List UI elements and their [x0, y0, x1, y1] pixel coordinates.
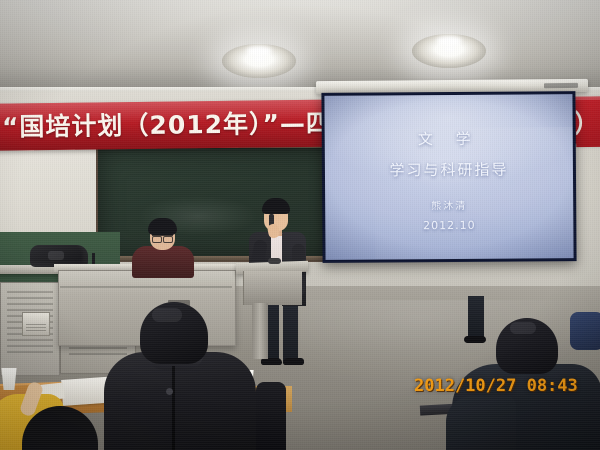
- audience-right-head: [496, 318, 558, 374]
- blue-bag: [570, 312, 600, 350]
- chair-back: [256, 382, 286, 450]
- housing-logo-icon: [544, 83, 578, 88]
- screen-vignette: [324, 94, 573, 260]
- presenter-hair: [262, 198, 290, 214]
- podium-body: [243, 271, 302, 305]
- rear-standing-person-shoe: [464, 336, 486, 343]
- projection-screen: 文 学 学习与科研指导 熊沐清 2012.10: [321, 91, 576, 263]
- ceiling-light-left-icon: [222, 44, 296, 78]
- rear-standing-person-legs: [468, 296, 484, 340]
- blackboard: [96, 146, 350, 262]
- console-seam: [60, 286, 232, 288]
- audience-leather-jacket-head: [140, 302, 208, 364]
- red-banner-right-segment: ）学: [576, 100, 600, 147]
- camera-timestamp: 2012/10/27 08:43: [414, 376, 578, 396]
- banner-text-right: ）学: [576, 102, 600, 147]
- small-equipment-box: [22, 312, 50, 336]
- presenter-left-shoe: [261, 358, 282, 365]
- audience-jacket-button: [166, 388, 173, 395]
- seated-host-hair: [148, 218, 177, 235]
- presenter-right-shoe: [283, 358, 304, 365]
- seated-host-glasses-icon: [152, 234, 173, 241]
- audience-right-arm: [446, 396, 516, 450]
- audience-jacket-seam: [172, 366, 175, 450]
- ceiling-light-right-icon: [412, 34, 486, 68]
- seated-host-body: [132, 246, 194, 278]
- podium-microphone-icon: [268, 258, 281, 264]
- screen-surface: 文 学 学习与科研指导 熊沐清 2012.10: [324, 94, 573, 260]
- podium-stem: [252, 303, 268, 359]
- photo-frame: “国培计划（2012年）”—四川省 ）学 文 学 学习与科研指导 熊沐清 201…: [0, 0, 600, 450]
